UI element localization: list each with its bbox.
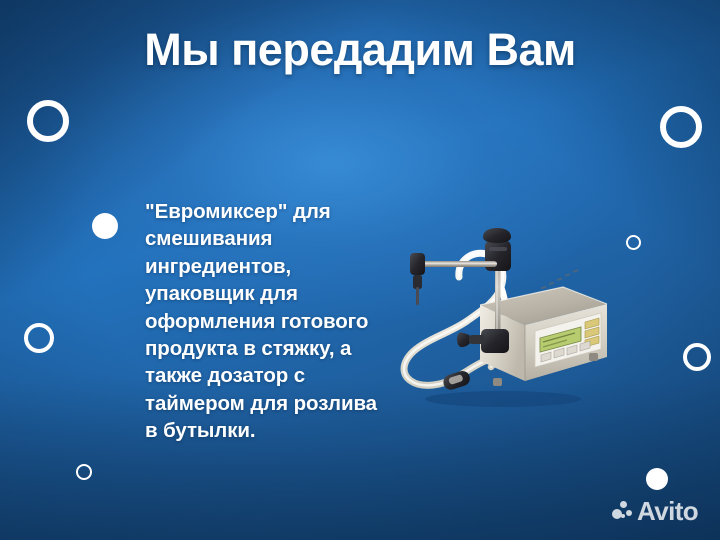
machine-foot-left — [493, 378, 502, 386]
ring-top-left — [27, 100, 69, 142]
ring-mid-left — [24, 323, 54, 353]
nozzle-holder — [410, 253, 425, 305]
ring-small-right — [626, 235, 641, 250]
panel-label-strip — [541, 269, 578, 289]
machine-foot-right — [589, 353, 598, 361]
page-title: Мы передадим Вам — [0, 21, 720, 79]
clamp-lower — [457, 329, 509, 353]
avito-dots-logo-icon — [612, 500, 634, 522]
promo-slide: Мы передадим Вам "Евромиксер" для смешив… — [0, 0, 720, 540]
avito-watermark: Avito — [612, 498, 698, 524]
dot-ring-bottom — [646, 468, 668, 490]
avito-wordmark: Avito — [637, 498, 698, 524]
ring-small-bottom — [76, 464, 92, 480]
ring-mid-right — [683, 343, 711, 371]
photo-shadow — [425, 391, 581, 407]
body-paragraph: "Евромиксер" для смешивания ингредиентов… — [145, 198, 377, 445]
product-photo — [385, 225, 610, 410]
nozzle-arm — [419, 261, 497, 267]
dot-ring-text — [92, 213, 118, 239]
ring-top-right — [660, 106, 702, 148]
